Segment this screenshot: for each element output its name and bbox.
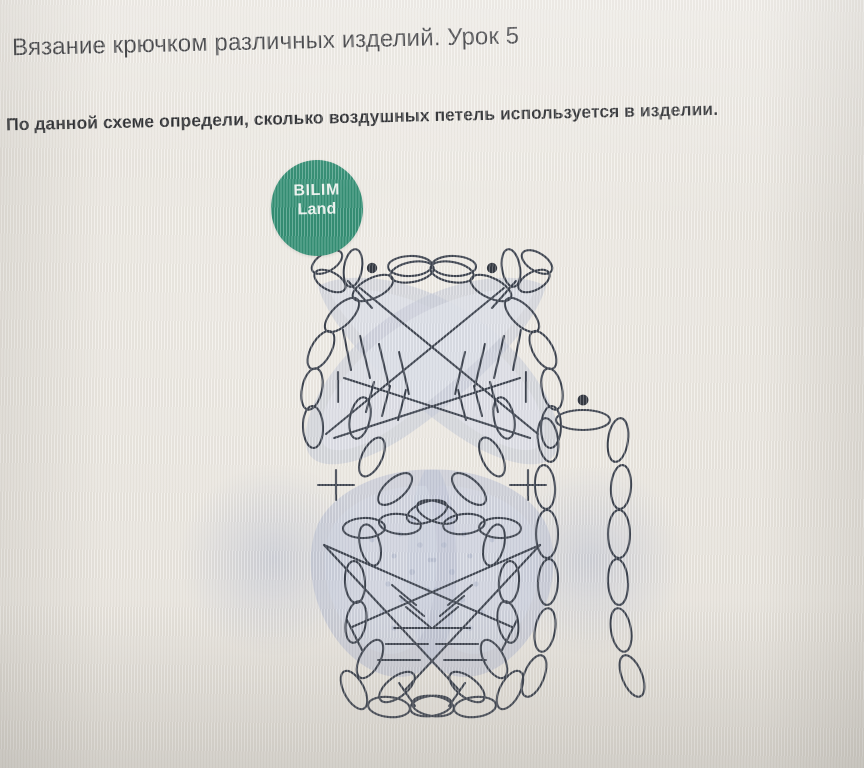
slip-stitch-dot-right (487, 263, 497, 273)
logo-line-2: Land (271, 199, 363, 220)
bilimland-logo-text: BILIM Land (270, 180, 363, 220)
logo-line-1: BILIM (270, 180, 362, 201)
butterfly-photo-underlay (178, 278, 686, 677)
slip-stitch-dot-left (367, 263, 377, 273)
screenshot-root: BILIM Land Вязание крючком различных изд… (0, 0, 864, 768)
chain-head (556, 410, 610, 430)
slip-stitch-dot-center (578, 395, 589, 406)
